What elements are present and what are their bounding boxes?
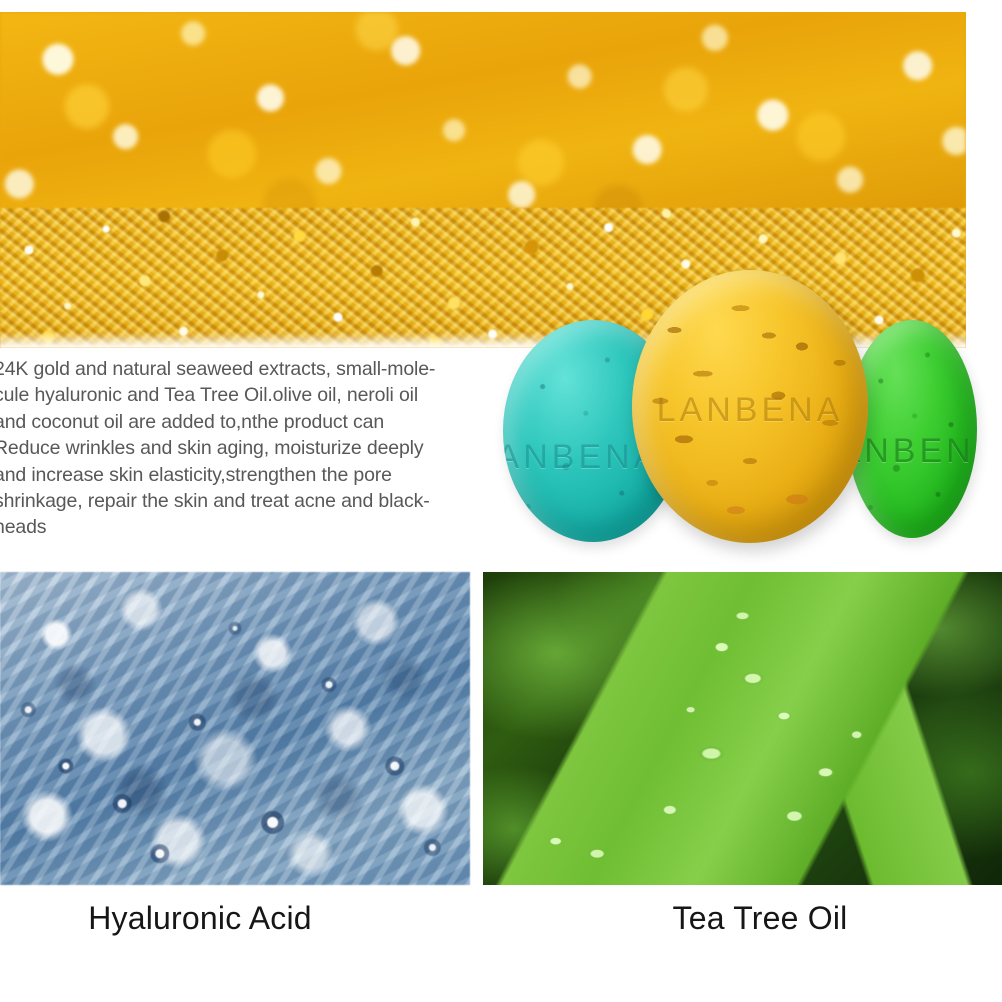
- product-infographic-page: 24K gold and natural seaweed extracts, s…: [0, 0, 1002, 1002]
- soap-bar-green: LANBENA: [847, 320, 977, 538]
- soap-speck-texture-green: [847, 320, 977, 538]
- soap-emboss-label-gold: LANBENA: [657, 391, 844, 430]
- product-description-text: 24K gold and natural seaweed extracts, s…: [0, 356, 514, 541]
- water-droplets-layer: [0, 572, 470, 885]
- caption-tea-tree-oil: Tea Tree Oil: [560, 898, 960, 938]
- soap-bars-group: LANBENA LANBENA LANBENA: [495, 258, 1002, 558]
- caption-hyaluronic-acid: Hyaluronic Acid: [0, 898, 400, 938]
- soap-bar-gold: LANBENA: [632, 270, 868, 543]
- hyaluronic-acid-image: [0, 572, 470, 885]
- gold-bokeh-layer: [0, 12, 966, 227]
- tea-tree-oil-image: [483, 572, 1002, 885]
- soap-emboss-label-green: LANBENA: [847, 432, 977, 471]
- leaf-droplets-layer: [483, 572, 1002, 885]
